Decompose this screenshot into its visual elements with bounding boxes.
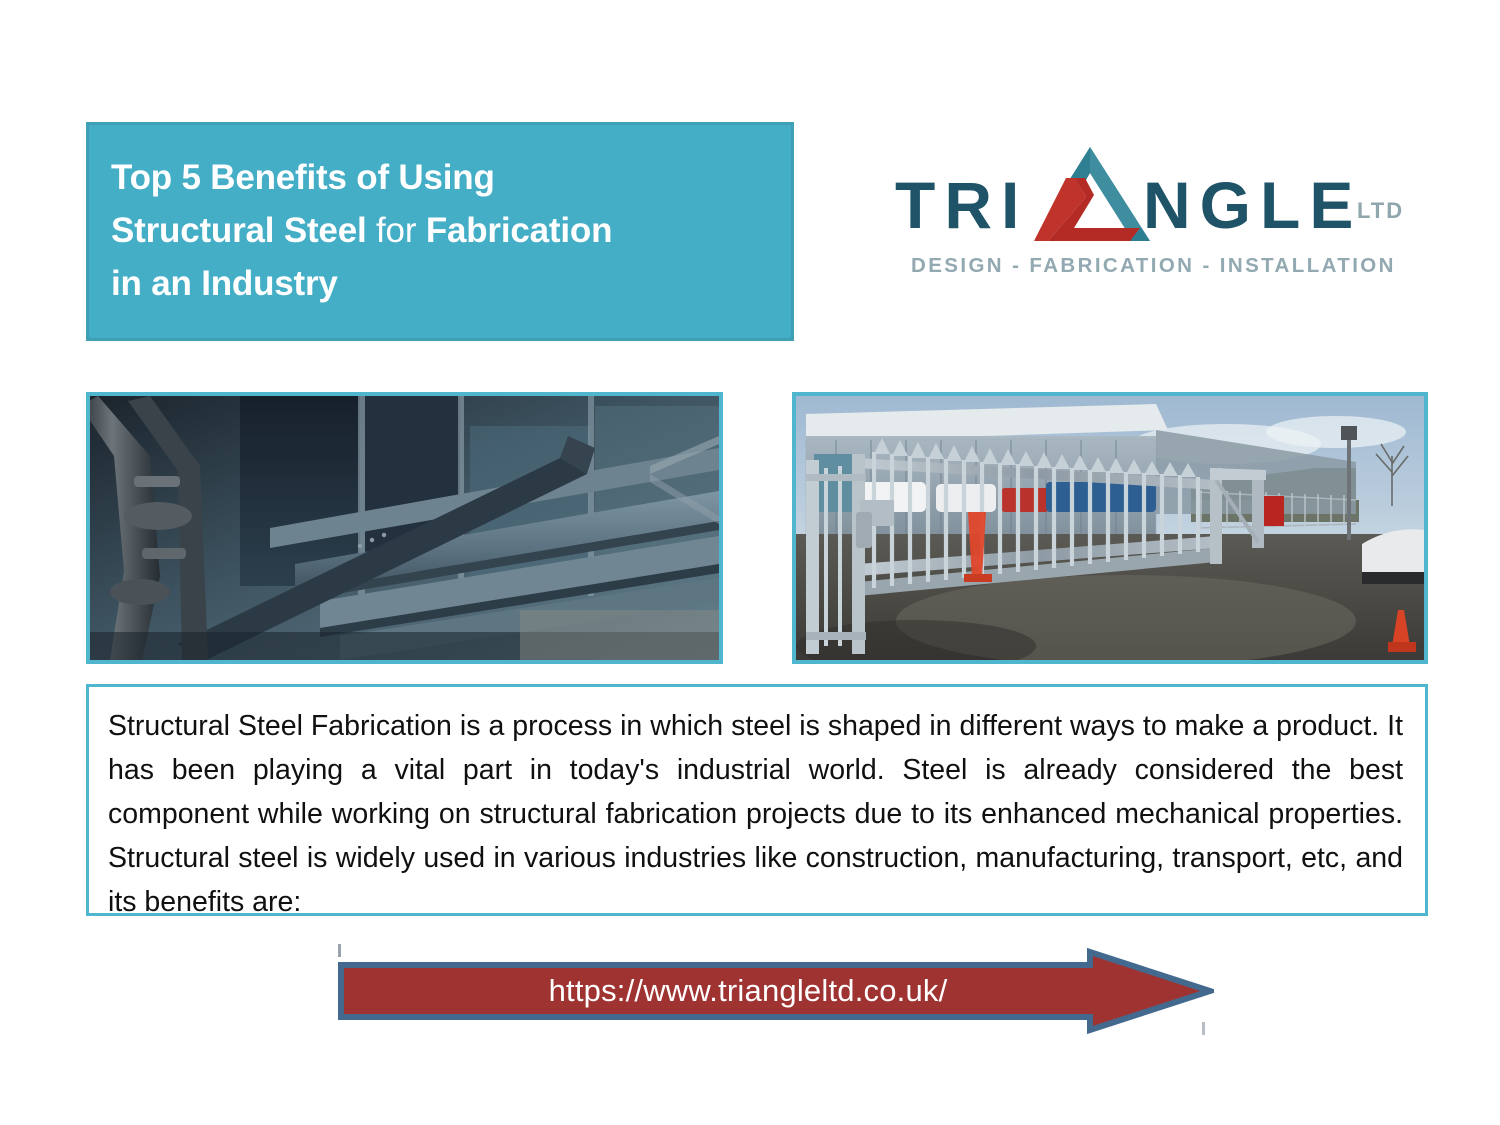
triangle-mark-icon (1028, 145, 1152, 243)
image-steel-beams (86, 392, 723, 664)
body-paragraph: Structural Steel Fabrication is a proces… (108, 704, 1403, 924)
title-line-1: Top 5 Benefits of Using (111, 158, 495, 197)
steel-gate-illustration (796, 396, 1424, 660)
logo-wordmark: TRI NGLE LTD (895, 140, 1405, 240)
title-line-2-bold-a: Structural Steel (111, 211, 367, 250)
image-steel-fencing (792, 392, 1428, 664)
website-url-arrow[interactable]: https://www.triangleltd.co.uk/ (338, 948, 1214, 1034)
title-banner: Top 5 Benefits of Using Structural Steel… (86, 122, 794, 341)
title-line-2-light: for (376, 211, 416, 250)
steel-beams-illustration (90, 396, 719, 660)
company-logo: TRI NGLE LTD DESIGN - FABRICATION - INST… (895, 140, 1405, 295)
logo-tagline: DESIGN - FABRICATION - INSTALLATION (911, 254, 1396, 278)
logo-word-part1: TRI (895, 172, 1028, 238)
page-title: Top 5 Benefits of Using Structural Steel… (111, 151, 761, 311)
website-url-label[interactable]: https://www.triangleltd.co.uk/ (338, 948, 1158, 1034)
logo-suffix-ltd: LTD (1357, 200, 1404, 222)
body-text-box: Structural Steel Fabrication is a proces… (86, 684, 1428, 916)
title-line-3: in an Industry (111, 264, 338, 303)
logo-word-part2: NGLE (1143, 172, 1362, 238)
title-line-2-bold-b: Fabrication (426, 211, 612, 250)
